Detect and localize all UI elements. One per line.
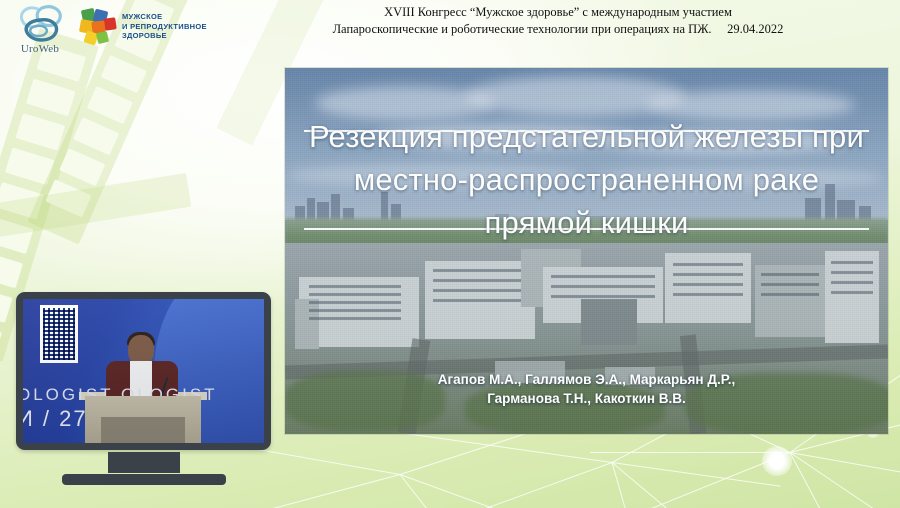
congress-header-text: XVIII Конгресс “Мужское здоровье” с межд…	[228, 4, 888, 38]
congress-subtitle-line: Лапароскопические и роботические техноло…	[228, 21, 888, 38]
screen-sheen	[23, 299, 264, 443]
header-bar: UroWeb МУЖСКОЕ И РЕПРОДУКТИВНОЕ ЗДОРОВЬЕ…	[0, 0, 900, 56]
mrz-logo-text: МУЖСКОЕ И РЕПРОДУКТИВНОЕ ЗДОРОВЬЕ	[122, 12, 207, 41]
slide-authors-line1: Агапов М.А., Галлямов Э.А., Маркарьян Д.…	[285, 370, 888, 389]
slide-authors-line2: Гарманова Т.Н., Какоткин В.В.	[285, 389, 888, 408]
mrz-logo: МУЖСКОЕ И РЕПРОДУКТИВНОЕ ЗДОРОВЬЕ	[78, 8, 220, 48]
slide-authors: Агапов М.А., Галлямов Э.А., Маркарьян Д.…	[285, 370, 888, 408]
speaker-video-monitor[interactable]: OLOGIST OLOGIST И / 27 ПРЕЛЯ	[16, 292, 271, 488]
monitor-frame: OLOGIST OLOGIST И / 27 ПРЕЛЯ	[16, 292, 271, 450]
mrz-logo-line1: МУЖСКОЕ	[122, 12, 207, 22]
slide-title: Резекция предстательной железы при местн…	[285, 115, 888, 244]
uroweb-logo-label: UroWeb	[12, 43, 68, 55]
presentation-slide[interactable]: Резекция предстательной железы при местн…	[285, 68, 888, 434]
slide-title-block: Резекция предстательной железы при местн…	[285, 130, 888, 230]
mrz-puzzle-icon	[78, 8, 120, 48]
monitor-stand-neck	[108, 452, 180, 473]
mrz-logo-line3: ЗДОРОВЬЕ	[122, 31, 207, 41]
monitor-stand-base	[62, 474, 226, 485]
congress-title-line: XVIII Конгресс “Мужское здоровье” с межд…	[228, 4, 888, 21]
monitor-screen[interactable]: OLOGIST OLOGIST И / 27 ПРЕЛЯ	[23, 299, 264, 443]
mrz-logo-line2: И РЕПРОДУКТИВНОЕ	[122, 22, 207, 32]
network-node	[762, 446, 792, 476]
uroweb-butterfly-icon	[12, 4, 68, 46]
uroweb-logo: UroWeb	[12, 4, 68, 56]
